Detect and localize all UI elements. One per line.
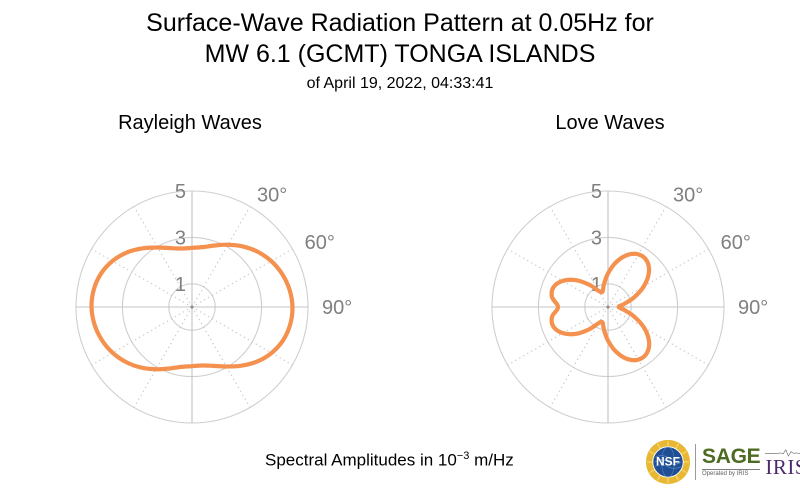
- units-caption: Spectral Amplitudes in 10−3 m/Hz: [265, 450, 514, 471]
- radial-gridline-30deg: [192, 207, 250, 307]
- nsf-logo-text: NSF: [656, 455, 680, 469]
- theta-tick-label-90: 90°: [738, 297, 768, 319]
- logo-divider: [695, 444, 696, 480]
- radial-gridline-240deg: [508, 307, 608, 365]
- sage-logo: SAGE Operated by IRIS: [702, 446, 760, 478]
- units-caption-suffix: m/Hz: [469, 451, 513, 470]
- theta-tick-label-30: 30°: [673, 184, 703, 206]
- r-tick-label-3: 3: [175, 227, 186, 249]
- theta-tick-label-90: 90°: [322, 297, 352, 319]
- logo-bar: NSF SAGE Operated by IRIS IRIS: [645, 437, 795, 487]
- radial-gridline-120deg: [192, 307, 292, 365]
- units-caption-prefix: Spectral Amplitudes in 10: [265, 451, 457, 470]
- r-tick-label-1: 1: [175, 274, 186, 296]
- iris-logo-text: IRIS: [765, 457, 800, 477]
- r-tick-label-3: 3: [591, 227, 602, 249]
- units-caption-exponent: −3: [457, 450, 470, 462]
- polar-axes-rayleigh: 13530°60°90°: [76, 181, 352, 423]
- radial-gridline-60deg: [192, 249, 292, 307]
- r-tick-label-5: 5: [591, 181, 602, 203]
- r-tick-label-5: 5: [175, 181, 186, 203]
- nsf-logo-icon: NSF: [645, 439, 691, 485]
- polar-axes-love: 13530°60°90°: [492, 181, 768, 423]
- theta-tick-label-30: 30°: [257, 184, 287, 206]
- polar-plots-svg: 13530°60°90°13530°60°90°: [0, 0, 800, 496]
- radial-gridline-240deg: [92, 307, 192, 365]
- sage-logo-text: SAGE: [702, 446, 760, 467]
- polar-origin-dot: [190, 305, 193, 308]
- iris-logo: IRIS: [765, 448, 800, 477]
- sage-logo-subtext: Operated by IRIS: [702, 469, 760, 478]
- theta-tick-label-60: 60°: [305, 232, 335, 254]
- radial-gridline-150deg: [192, 307, 250, 407]
- radial-gridline-210deg: [134, 307, 192, 407]
- polar-origin-dot: [606, 305, 609, 308]
- figure-canvas: Surface-Wave Radiation Pattern at 0.05Hz…: [0, 0, 800, 496]
- theta-tick-label-60: 60°: [721, 232, 751, 254]
